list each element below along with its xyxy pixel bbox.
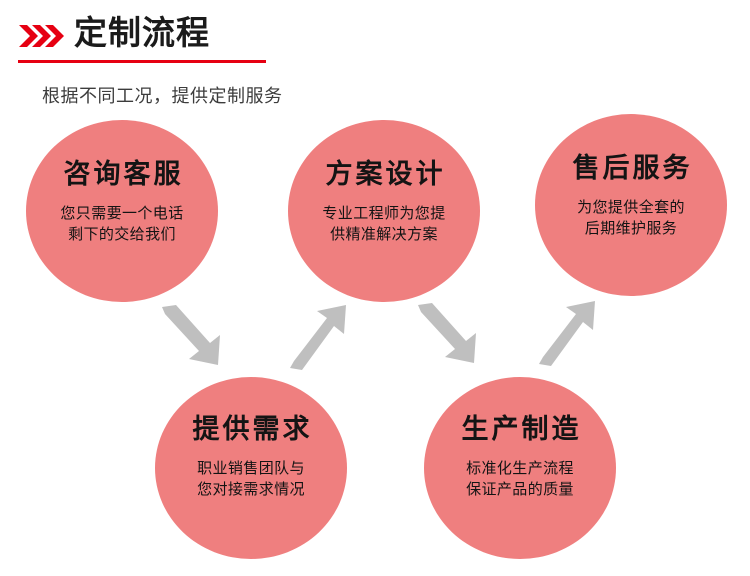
flow-node-after-sales[interactable]: 售后服务 为您提供全套的 后期维护服务: [535, 114, 727, 296]
flow-node-manufacturing[interactable]: 生产制造 标准化生产流程 保证产品的质量: [424, 377, 616, 559]
flow-node-desc-line: 后期维护服务: [577, 218, 685, 239]
flow-node-title: 咨询客服: [61, 152, 184, 191]
flow-node-title: 提供需求: [190, 407, 313, 446]
flow-node-desc-line: 您对接需求情况: [197, 479, 305, 500]
flow-node-consultation[interactable]: 咨询客服 您只需要一个电话 剩下的交给我们: [26, 120, 218, 302]
arrow-up-right-icon: [537, 298, 605, 366]
arrow-up-right-icon: [288, 302, 356, 370]
flow-node-description: 为您提供全套的 后期维护服务: [577, 197, 685, 238]
flow-node-desc-line: 标准化生产流程: [466, 458, 574, 479]
process-flow-diagram: 咨询客服 您只需要一个电话 剩下的交给我们 方案设计 专业工程师为您提 供精准解…: [0, 0, 750, 576]
arrow-down-right-icon: [414, 303, 480, 369]
flow-node-description: 标准化生产流程 保证产品的质量: [466, 458, 574, 499]
flow-node-description: 您只需要一个电话 剩下的交给我们: [60, 203, 183, 244]
flow-node-description: 职业销售团队与 您对接需求情况: [197, 458, 305, 499]
flow-node-description: 专业工程师为您提 供精准解决方案: [322, 203, 445, 244]
flow-node-desc-line: 保证产品的质量: [466, 479, 574, 500]
flow-node-desc-line: 专业工程师为您提: [322, 203, 445, 224]
flow-node-solution-design[interactable]: 方案设计 专业工程师为您提 供精准解决方案: [288, 120, 480, 302]
flow-node-title: 售后服务: [570, 146, 693, 185]
flow-node-desc-line: 职业销售团队与: [197, 458, 305, 479]
flow-node-requirements[interactable]: 提供需求 职业销售团队与 您对接需求情况: [155, 377, 347, 559]
flow-node-desc-line: 您只需要一个电话: [60, 203, 183, 224]
flow-node-desc-line: 为您提供全套的: [577, 197, 685, 218]
flow-node-desc-line: 剩下的交给我们: [60, 224, 183, 245]
arrow-down-right-icon: [158, 305, 224, 371]
flow-node-title: 生产制造: [459, 407, 582, 446]
flow-node-desc-line: 供精准解决方案: [322, 224, 445, 245]
flow-node-title: 方案设计: [323, 152, 446, 191]
